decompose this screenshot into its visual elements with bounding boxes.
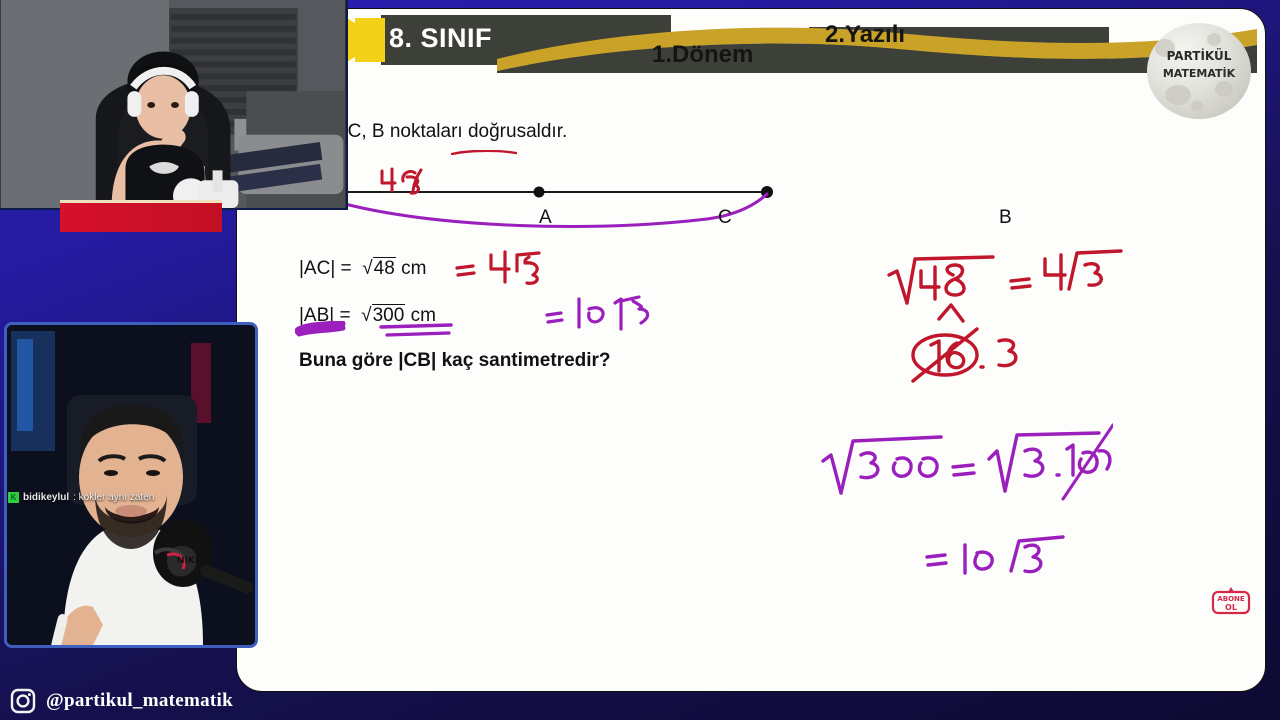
student-webcam[interactable] — [0, 0, 348, 210]
chat-badge-icon: K — [8, 492, 19, 503]
point-label-a: A — [539, 207, 552, 229]
worksheet-panel: 8. SINIF 1.Dönem 2.Yazılı PARTİKÜL MATEM… — [236, 8, 1266, 692]
subscribe-line1: ABONE — [1211, 595, 1251, 603]
grade-label: 8. SINIF — [389, 23, 492, 54]
chat-message-text: : kokler aynı zaten — [73, 492, 154, 503]
instagram-handle-text: @partikul_matematik — [46, 690, 233, 712]
given-ac-unit: cm — [401, 258, 426, 279]
subscribe-line2: OL — [1211, 603, 1251, 612]
moon-logo-line2: MATEMATİK — [1147, 67, 1251, 80]
red-ink-inline-ac-result — [453, 249, 563, 289]
radicand-48: 48 — [373, 257, 396, 279]
student-webcam-feed — [0, 0, 346, 208]
moon-logo-line1: PARTİKÜL — [1147, 49, 1251, 63]
chat-message-overlay: K bidikeylul : kokler aynı zaten — [8, 492, 154, 503]
header-arrow-icon — [347, 18, 381, 62]
partikul-moon-logo: PARTİKÜL MATEMATİK — [1147, 23, 1251, 119]
given-ac-equation: |AC| = √48 cm — [299, 258, 426, 280]
teacher-webcam-feed: NIKE — [7, 325, 255, 645]
point-label-c: C — [718, 207, 732, 229]
exam-label: 2.Yazılı — [825, 21, 905, 49]
chat-username: bidikeylul — [23, 492, 69, 503]
subscribe-sticker[interactable]: ABONE OL — [1211, 587, 1251, 617]
purple-ink-work-sqrt300 — [813, 421, 1113, 601]
point-label-b: B — [999, 207, 1012, 229]
exam-header-banner: 8. SINIF 1.Dönem 2.Yazılı — [347, 15, 1247, 73]
given-ac-label: |AC| = — [299, 258, 352, 279]
promo-red-strip — [60, 200, 222, 232]
red-ink-work-sqrt48 — [877, 245, 1137, 395]
svg-text:NIKE: NIKE — [177, 556, 201, 566]
term-label: 1.Dönem — [652, 41, 753, 69]
instagram-handle-bar[interactable]: @partikul_matematik — [0, 684, 243, 718]
teacher-webcam[interactable]: NIKE — [4, 322, 258, 648]
question-ask-line: Buna göre |CB| kaç santimetredir? — [299, 350, 611, 372]
purple-highlight-underlines-ink — [295, 321, 475, 343]
instagram-icon — [10, 688, 36, 714]
radical-48: √48 — [357, 258, 396, 280]
red-ink-4root3-on-segment — [377, 167, 447, 199]
red-underline-noktalari-ink — [451, 150, 517, 155]
purple-ink-inline-ab-result — [503, 293, 663, 339]
